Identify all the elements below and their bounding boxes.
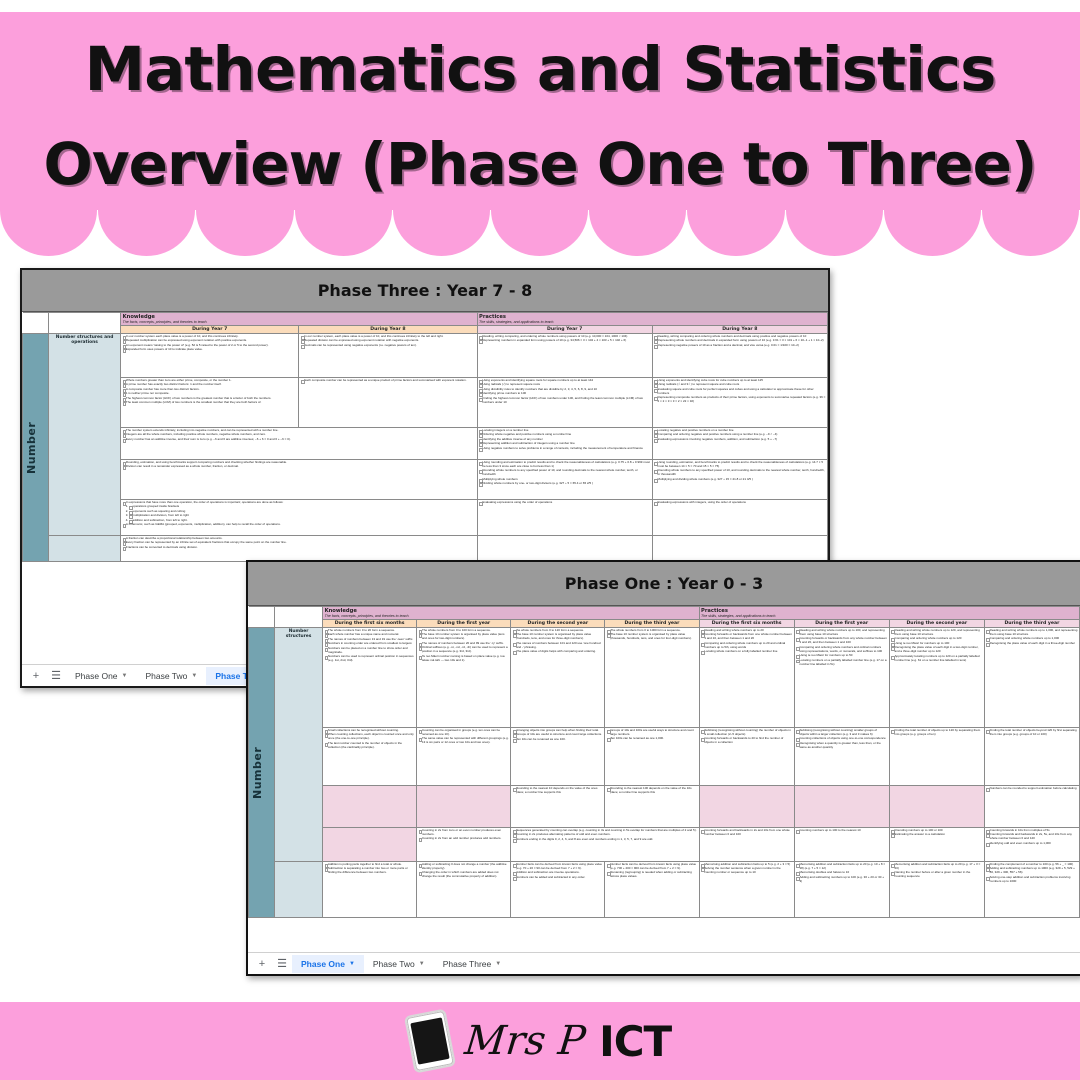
sheet-title-phase-three: Phase Three : Year 7 - 8 bbox=[22, 270, 828, 312]
sheet-tab-label: Phase Two bbox=[373, 959, 415, 969]
list-item: Rounding to the nearest 10 depends on th… bbox=[513, 787, 603, 795]
column-header-p-year7: During Year 7 bbox=[477, 326, 652, 334]
list-item: Te reo Māori number naming is based on p… bbox=[419, 655, 509, 663]
substrand-label-continued bbox=[275, 862, 323, 918]
header-practices-subtitle: The skills, strategies, and applications… bbox=[479, 320, 825, 324]
brand-name-bold: ICT bbox=[599, 1017, 671, 1066]
table-header-row-columns: During the first six months During the f… bbox=[249, 620, 1080, 628]
corner-blank-strand bbox=[249, 607, 275, 628]
table-cell bbox=[889, 786, 984, 828]
table-cell bbox=[794, 786, 889, 828]
list-item: Rounding whole numbers to any specified … bbox=[479, 469, 650, 477]
list-item: Counting in 2s from an odd number produc… bbox=[419, 837, 509, 841]
list-item: Naming the number before or after a give… bbox=[891, 871, 982, 879]
table-cell: Each composite number can be represented… bbox=[299, 378, 477, 428]
table-cell: Rounding to the nearest 100 depends on t… bbox=[605, 786, 699, 828]
chevron-down-icon[interactable]: ▼ bbox=[191, 673, 197, 679]
column-header-p-2: During the second year bbox=[889, 620, 984, 628]
table-row: Rounding to the nearest 10 depends on th… bbox=[249, 786, 1080, 828]
table-cell: Adding or subtracting 0 does not change … bbox=[417, 862, 511, 918]
table-row: Small collections can be recognised with… bbox=[249, 728, 1080, 786]
column-header-p-year8: During Year 8 bbox=[652, 326, 827, 334]
table-cell: Groups of 10s and 100s are useful ways t… bbox=[605, 728, 699, 786]
list-item: Multiplying and dividing whole numbers (… bbox=[654, 478, 825, 482]
list-item: Recognising the place value of each digi… bbox=[986, 642, 1077, 646]
list-item: The base 10 number system is organised b… bbox=[607, 633, 697, 641]
list-item: Changing the order in which numbers are … bbox=[419, 871, 509, 879]
table-row: Whole numbers greater than zero are eith… bbox=[23, 378, 828, 428]
corner-blank-substrand bbox=[49, 313, 121, 334]
brand-name-script: Mrs P bbox=[462, 1018, 587, 1064]
table-row: Rounding, estimation, and using benchmar… bbox=[23, 460, 828, 500]
table-row: The number system extends infinitely, in… bbox=[23, 428, 828, 460]
table-row: Counting in 2s from zero or an even numb… bbox=[249, 828, 1080, 862]
list-item: Finding the total number of objects beyo… bbox=[986, 729, 1077, 737]
list-item: Numbers can be rounded to support estima… bbox=[986, 787, 1077, 791]
table-cell: Rounding to the nearest 10 depends on th… bbox=[511, 786, 605, 828]
phase-one-table: Knowledge The facts, concepts, principle… bbox=[248, 606, 1080, 918]
list-item: Rounding whole numbers to any specified … bbox=[654, 469, 825, 477]
list-item: Every number has an additive inverse, an… bbox=[123, 438, 475, 442]
list-item: Evaluating expressions involving negativ… bbox=[654, 438, 825, 442]
strand-label-number: Number bbox=[23, 334, 49, 562]
list-item: The place value of digits helps with com… bbox=[513, 650, 603, 654]
list-item: Recognising when a quantity is greater t… bbox=[796, 742, 887, 750]
table-cell: Rounding, estimation, and using benchmar… bbox=[121, 460, 477, 500]
table-cell: Numbers can be rounded to support estima… bbox=[984, 786, 1079, 828]
sheet-tab-phase-one[interactable]: Phase One▼ bbox=[66, 667, 136, 685]
table-cell: The number system extends infinitely, in… bbox=[121, 428, 477, 460]
table-cell: Number facts can be derived from known f… bbox=[511, 862, 605, 918]
list-item: Recognising the place value of each digi… bbox=[891, 646, 982, 654]
table-cell: Arranging objects into groups can help w… bbox=[511, 728, 605, 786]
column-header-k-year8: During Year 8 bbox=[299, 326, 477, 334]
table-cell: Reading and writing whole numbers up to … bbox=[794, 628, 889, 728]
header-practices-subtitle: The skills, strategies, and applications… bbox=[701, 614, 1077, 618]
table-cell: In our number system each place value is… bbox=[121, 334, 299, 378]
phase-three-body: NumberNumber structures and operationsIn… bbox=[23, 334, 828, 562]
table-cell: Locating negative and positive numbers o… bbox=[652, 428, 827, 460]
table-cell: Addition is putting parts together to fi… bbox=[323, 862, 417, 918]
table-cell: Locating integers on a number lineOrderi… bbox=[477, 428, 652, 460]
list-item: Evaluating expressions using the order o… bbox=[479, 501, 650, 505]
sheet-tab-phase-three[interactable]: Phase Three▼ bbox=[434, 955, 510, 973]
table-cell: Memorising addition and subtraction fact… bbox=[699, 862, 794, 918]
table-cell: A fraction can describe a proportional r… bbox=[121, 536, 477, 562]
table-cell bbox=[323, 828, 417, 862]
table-cell: Number facts can be derived from known f… bbox=[605, 862, 699, 918]
list-item: Ordinal suffixes (e.g. -st, -nd, -rd, -t… bbox=[419, 646, 509, 654]
list-item: Fractions can be converted to decimals u… bbox=[123, 546, 475, 550]
column-header-k-3: During the third year bbox=[605, 620, 699, 628]
column-header-k-0: During the first six months bbox=[323, 620, 417, 628]
table-cell bbox=[477, 536, 652, 562]
table-cell: Reading and writing whole numbers up to … bbox=[699, 628, 794, 728]
table-cell bbox=[323, 786, 417, 828]
table-cell: Using rounding, estimation, and benchmar… bbox=[652, 460, 827, 500]
table-cell: Reading and writing whole numbers up to … bbox=[889, 628, 984, 728]
list-item: Division can result in a remainder expre… bbox=[123, 465, 475, 469]
table-cell: Reading, writing comparing and ordering … bbox=[652, 334, 827, 378]
scallop-edge-decoration bbox=[0, 210, 1080, 256]
chevron-down-icon[interactable]: ▼ bbox=[122, 673, 128, 679]
table-row: In expressions that have more than one o… bbox=[23, 500, 828, 536]
page-title-line1: Mathematics and Statistics bbox=[85, 34, 996, 105]
header-knowledge: Knowledge The facts, concepts, principle… bbox=[323, 607, 699, 620]
sheet-tab-label: Phase Three bbox=[443, 959, 492, 969]
column-header-k-1: During the first year bbox=[417, 620, 511, 628]
table-cell: Using exponents and identifying square r… bbox=[477, 378, 652, 428]
column-header-p-1: During the first year bbox=[794, 620, 889, 628]
list-item: Solving the number sentence when a given… bbox=[701, 867, 792, 875]
list-item: Finding the highest common factor (HCF) … bbox=[479, 397, 650, 405]
table-cell: Reading, writing comparing, and ordering… bbox=[477, 334, 652, 378]
list-item: Decimals can be represented using negati… bbox=[301, 344, 475, 348]
list-item: The least common multiple (LCM) of two n… bbox=[123, 401, 297, 405]
list-item: Finding the total number of objects up t… bbox=[891, 729, 982, 737]
list-item: A mnemonic, such as GEMA (grouped, expon… bbox=[123, 523, 475, 527]
tablet-icon bbox=[404, 1009, 456, 1074]
table-cell: Whole numbers greater than zero are eith… bbox=[121, 378, 299, 428]
table-cell: the whole numbers from 0 to 120 form a s… bbox=[511, 628, 605, 728]
header-knowledge: Knowledge The facts, concepts, principle… bbox=[121, 313, 477, 326]
list-item: Approximately locating numbers up to 120… bbox=[891, 655, 982, 663]
table-cell: Counting can be organised in groups (e.g… bbox=[417, 728, 511, 786]
sheet-tab-label: Phase Two bbox=[145, 671, 187, 681]
table-cell bbox=[699, 786, 794, 828]
chevron-down-icon[interactable]: ▼ bbox=[419, 961, 425, 967]
corner-blank-substrand bbox=[275, 607, 323, 628]
list-item: Counting forwards and backwards in 2s an… bbox=[701, 829, 792, 837]
plus-icon[interactable]: + bbox=[252, 958, 272, 970]
page-title: Mathematics and Statistics Overview (Pha… bbox=[0, 22, 1080, 212]
column-header-k-2: During the second year bbox=[511, 620, 605, 628]
table-cell: The whole numbers from 0 to 20 form a se… bbox=[323, 628, 417, 728]
phase-three-table: Knowledge The facts, concepts, principle… bbox=[22, 312, 828, 562]
list-item: Numbers can be used to represent ordinal… bbox=[325, 655, 415, 663]
list-item: Each composite number can be represented… bbox=[301, 379, 475, 383]
column-header-p-3: During the third year bbox=[984, 620, 1079, 628]
column-header-p-0: During the first six months bbox=[699, 620, 794, 628]
corner-blank-strand bbox=[23, 313, 49, 334]
substrand-label: Number structures and operations bbox=[49, 334, 121, 536]
table-cell: Finding the total number of objects beyo… bbox=[984, 728, 1079, 786]
list-item: Representing negative powers of 10 as a … bbox=[654, 344, 825, 348]
footer-brand-banner: Mrs P ICT bbox=[0, 1002, 1080, 1080]
list-item: Renaming (regrouping) is needed when add… bbox=[607, 871, 697, 879]
table-cell: Counting numbers up to 100 to the neares… bbox=[794, 828, 889, 862]
sheet-tab-phase-two[interactable]: Phase Two▼ bbox=[364, 955, 434, 973]
table-cell: Sequences generated by counting can over… bbox=[511, 828, 699, 862]
table-cell: Counting forwards in 10s from multiples … bbox=[984, 828, 1079, 862]
hamburger-icon[interactable]: ☰ bbox=[46, 669, 66, 682]
header-knowledge-subtitle: The facts, concepts, principles, and the… bbox=[123, 320, 475, 324]
table-cell: In expressions that have more than one o… bbox=[121, 500, 477, 536]
list-item: Subtraction is separating a number into … bbox=[325, 867, 415, 875]
table-header-row-sections: Knowledge The facts, concepts, principle… bbox=[23, 313, 828, 326]
page-title-line2: Overview (Phase One to Three) bbox=[0, 117, 1080, 212]
list-item: Locating whole numbers on a fully labell… bbox=[701, 650, 792, 654]
header-knowledge-subtitle: The facts, concepts, principles, and the… bbox=[325, 614, 697, 618]
sheet-tab-label: Phase One bbox=[301, 959, 345, 969]
chevron-down-icon[interactable]: ▼ bbox=[495, 961, 501, 967]
table-cell: In our number system, each place value i… bbox=[299, 334, 477, 378]
table-cell: The whole numbers from 0 to 1000 form a … bbox=[605, 628, 699, 728]
table-cell: Finding the complement of a number to 10… bbox=[984, 862, 1079, 918]
list-item: The same value can be represented with d… bbox=[419, 737, 509, 745]
phase-one-body: NumberNumber structuresThe whole numbers… bbox=[249, 628, 1080, 918]
strand-label-number: Number bbox=[249, 628, 275, 918]
sheet-tab-phase-two[interactable]: Phase Two▼ bbox=[136, 667, 206, 685]
substrand-label: Number structures bbox=[275, 628, 323, 862]
sheet-tab-phase-one[interactable]: Phase One▼ bbox=[292, 955, 364, 973]
table-cell: Finding the total number of objects up t… bbox=[889, 728, 984, 786]
table-cell bbox=[652, 536, 827, 562]
sheet-tab-bar-phase-one[interactable]: + ☰ Phase One▼ Phase Two▼ Phase Three▼ bbox=[248, 952, 1080, 974]
list-item: Representing numbers in expanded form us… bbox=[479, 339, 650, 343]
table-cell: Using rounding and estimation to predict… bbox=[477, 460, 652, 500]
list-item: Numbers can be added and subtracted in a… bbox=[513, 876, 603, 880]
substrand-label-continued bbox=[49, 536, 121, 562]
table-cell: Subitising (recognising without counting… bbox=[794, 728, 889, 786]
plus-icon[interactable]: + bbox=[26, 670, 46, 682]
list-item: The last number counted is the number of… bbox=[325, 742, 415, 750]
table-cell: Evaluating expressions using the order o… bbox=[477, 500, 652, 536]
table-row: NumberNumber structuresThe whole numbers… bbox=[249, 628, 1080, 728]
list-item: Numbers ending in the digits 0, 2, 4, 6,… bbox=[513, 838, 697, 842]
table-cell: The whole numbers from 0 to 100 form a s… bbox=[417, 628, 511, 728]
table-cell bbox=[417, 786, 511, 828]
table-cell: Evaluating expressions with integers, us… bbox=[652, 500, 827, 536]
table-cell: Using exponents and identifying cube roo… bbox=[652, 378, 827, 428]
list-item: Identifying odd and even numbers up to 1… bbox=[986, 842, 1077, 846]
list-item: Using negative numbers to solve problems… bbox=[479, 447, 650, 451]
table-cell: Reading and writing whole numbers up to … bbox=[984, 628, 1079, 728]
sheet-tab-label: Phase One bbox=[75, 671, 118, 681]
table-cell: Memorising addition and subtraction fact… bbox=[889, 862, 984, 918]
list-item: Ten 100s can be renamed as one 1,000. bbox=[607, 737, 697, 741]
spreadsheet-window-phase-one[interactable]: Phase One : Year 0 - 3 Knowledge The fac… bbox=[246, 560, 1080, 976]
table-cell: Rounding numbers up to 100 or 100Estimat… bbox=[889, 828, 984, 862]
table-row: A fraction can describe a proportional r… bbox=[23, 536, 828, 562]
sheet-title-phase-one: Phase One : Year 0 - 3 bbox=[248, 562, 1080, 606]
table-cell: Memorising addition and subtraction fact… bbox=[794, 862, 889, 918]
list-item: Dividing whole numbers by one- or two-di… bbox=[479, 482, 650, 486]
table-header-row-columns: During Year 7 During Year 8 During Year … bbox=[23, 326, 828, 334]
list-item: Ten 10s can be renamed as one 100. bbox=[513, 738, 603, 742]
list-item: Locating numbers on a partially labelled… bbox=[796, 659, 887, 667]
table-row: Addition is putting parts together to fi… bbox=[249, 862, 1080, 918]
list-item: Counting forwards or backwards from any … bbox=[796, 637, 887, 645]
table-row: NumberNumber structures and operationsIn… bbox=[23, 334, 828, 378]
table-cell: Counting forwards and backwards in 2s an… bbox=[699, 828, 794, 862]
header-practices: Practices The skills, strategies, and ap… bbox=[699, 607, 1079, 620]
list-item: Estimating the answer to a calculation bbox=[891, 833, 982, 837]
chevron-down-icon[interactable]: ▼ bbox=[349, 961, 355, 967]
list-item: Counting forwards or backwards to 20 to … bbox=[701, 737, 792, 745]
list-item: Representing composite numbers as produc… bbox=[654, 396, 825, 404]
list-item: Expanded form uses powers of 10 to indic… bbox=[123, 348, 297, 352]
list-item: Rounding to the nearest 100 depends on t… bbox=[607, 787, 697, 795]
hamburger-icon[interactable]: ☰ bbox=[272, 957, 292, 970]
list-item: Adding and subtracting numbers up to 100… bbox=[796, 876, 887, 884]
table-cell: Small collections can be recognised with… bbox=[323, 728, 417, 786]
table-cell: Counting in 2s from zero or an even numb… bbox=[417, 828, 511, 862]
table-header-row-sections: Knowledge The facts, concepts, principle… bbox=[249, 607, 1080, 620]
table-cell: Subitising (recognising without counting… bbox=[699, 728, 794, 786]
header-practices: Practices The skills, strategies, and ap… bbox=[477, 313, 827, 326]
column-header-k-year7: During Year 7 bbox=[121, 326, 299, 334]
list-item: Solving one-step addition and subtractio… bbox=[986, 876, 1077, 884]
list-item: Evaluating expressions with integers, us… bbox=[654, 501, 825, 505]
list-item: Counting numbers up to 100 to the neares… bbox=[796, 829, 887, 833]
